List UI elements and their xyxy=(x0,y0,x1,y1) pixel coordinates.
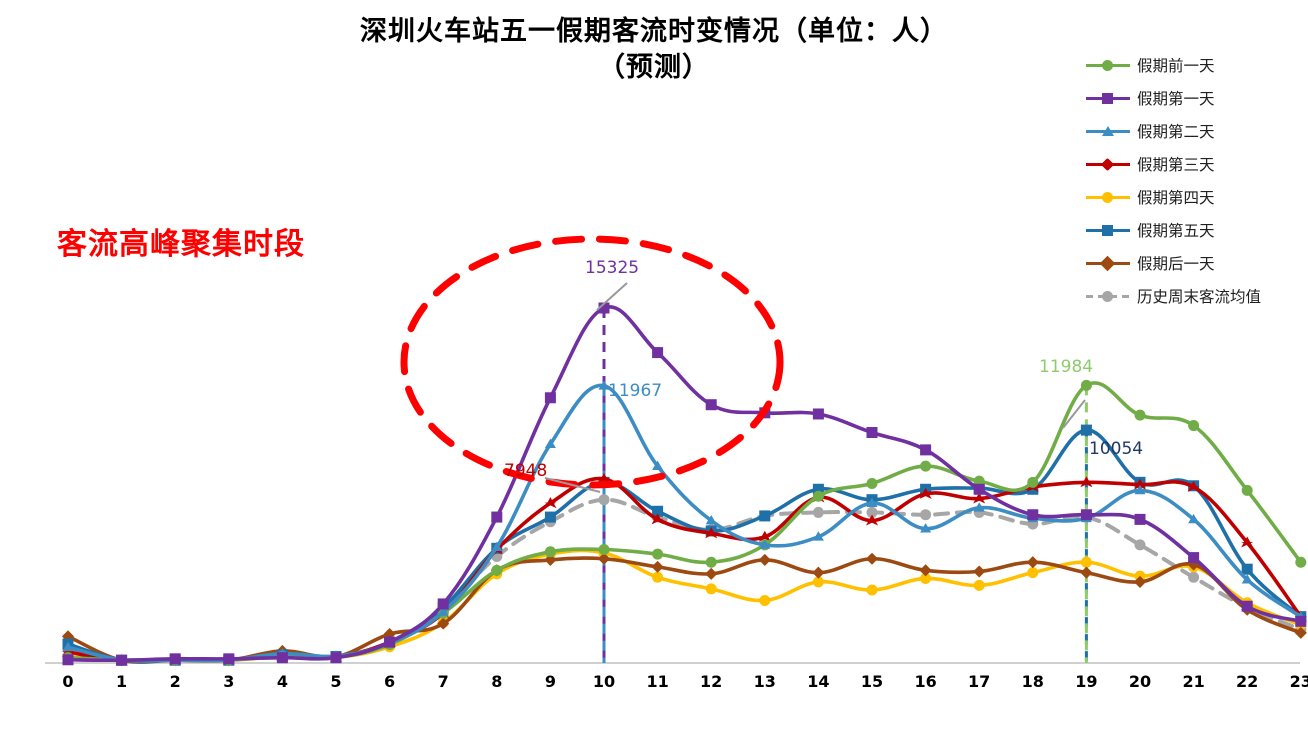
triangle-marker-icon xyxy=(1102,126,1114,136)
x-tick-7: 7 xyxy=(423,672,463,691)
data-point-marker xyxy=(867,585,878,596)
data-point-marker xyxy=(1081,557,1092,568)
data-label-red-at-10: 7948 xyxy=(504,461,547,481)
data-point-marker xyxy=(920,461,931,472)
legend-label: 假期第三天 xyxy=(1137,153,1215,175)
data-point-marker xyxy=(813,507,824,518)
x-tick-18: 18 xyxy=(1013,672,1053,691)
legend-swatch-square-icon xyxy=(1086,222,1130,238)
data-point-marker xyxy=(706,399,717,410)
data-point-marker xyxy=(1242,601,1253,612)
data-point-marker xyxy=(545,512,556,523)
data-point-marker xyxy=(1188,552,1199,563)
x-tick-13: 13 xyxy=(745,672,785,691)
x-tick-21: 21 xyxy=(1174,672,1214,691)
x-tick-0: 0 xyxy=(48,672,88,691)
data-point-marker xyxy=(599,544,610,555)
data-point-marker xyxy=(813,408,824,419)
square-marker-icon xyxy=(1102,225,1113,236)
data-point-marker xyxy=(920,444,931,455)
data-point-marker xyxy=(438,598,449,609)
data-point-marker xyxy=(974,580,985,591)
data-point-marker xyxy=(116,655,127,666)
data-point-marker xyxy=(1135,514,1146,525)
x-tick-23: 23 xyxy=(1281,672,1308,691)
legend-item-5[interactable]: 假期第五天 xyxy=(1086,213,1261,246)
legend-item-7[interactable]: 历史周末客流均值 xyxy=(1086,279,1261,312)
data-point-marker xyxy=(652,347,663,358)
legend-label: 假期前一天 xyxy=(1137,54,1215,76)
data-label-blue-peak: 11967 xyxy=(608,381,662,401)
series-5 xyxy=(63,425,1307,666)
star-marker-icon xyxy=(1101,157,1114,170)
data-point-marker xyxy=(1081,380,1092,391)
data-point-marker xyxy=(1295,557,1306,568)
data-point-marker xyxy=(277,652,288,663)
data-label-purple-peak: 15325 xyxy=(585,258,639,278)
x-tick-14: 14 xyxy=(798,672,838,691)
legend-item-3[interactable]: 假期第三天 xyxy=(1086,147,1261,180)
data-point-marker xyxy=(1188,420,1199,431)
data-point-marker xyxy=(1027,556,1039,568)
data-point-marker xyxy=(867,478,878,489)
legend-swatch-circle-icon xyxy=(1086,57,1130,73)
data-point-marker xyxy=(599,494,610,505)
series-line xyxy=(68,558,1301,662)
series-4 xyxy=(63,547,1307,665)
data-point-marker xyxy=(545,546,556,557)
data-point-marker xyxy=(652,549,663,560)
data-point-marker xyxy=(331,652,342,663)
data-point-marker xyxy=(1080,567,1092,579)
legend-label: 假期第一天 xyxy=(1137,87,1215,109)
diamond-marker-icon xyxy=(1100,255,1116,271)
series-line xyxy=(68,430,1301,661)
legend-item-2[interactable]: 假期第二天 xyxy=(1086,114,1261,147)
x-tick-12: 12 xyxy=(691,672,731,691)
data-point-marker xyxy=(384,637,395,648)
data-point-marker xyxy=(706,583,717,594)
data-point-marker xyxy=(63,654,74,665)
data-point-marker xyxy=(652,572,663,583)
series-line xyxy=(68,383,1301,660)
data-point-marker xyxy=(1188,572,1199,583)
data-point-marker xyxy=(920,509,931,520)
data-point-marker xyxy=(920,564,932,576)
x-tick-6: 6 xyxy=(370,672,410,691)
legend-swatch-triangle-icon xyxy=(1086,123,1130,139)
series-line xyxy=(68,550,1301,660)
data-point-marker xyxy=(759,595,770,606)
legend-swatch-circle-icon xyxy=(1086,288,1130,304)
circle-marker-icon xyxy=(1102,192,1113,203)
data-point-marker xyxy=(867,427,878,438)
data-point-marker xyxy=(170,653,181,664)
x-tick-2: 2 xyxy=(155,672,195,691)
x-tick-22: 22 xyxy=(1227,672,1267,691)
data-point-marker xyxy=(705,568,717,580)
data-point-marker xyxy=(1081,509,1092,520)
data-point-marker xyxy=(223,653,234,664)
square-marker-icon xyxy=(1102,93,1113,104)
x-tick-9: 9 xyxy=(530,672,570,691)
data-point-marker xyxy=(652,561,664,573)
data-point-marker xyxy=(1295,616,1306,627)
x-tick-15: 15 xyxy=(852,672,892,691)
x-tick-4: 4 xyxy=(262,672,302,691)
x-tick-10: 10 xyxy=(584,672,624,691)
x-tick-16: 16 xyxy=(906,672,946,691)
data-point-marker xyxy=(1081,425,1092,436)
legend-label: 假期第二天 xyxy=(1137,120,1215,142)
x-tick-1: 1 xyxy=(102,672,142,691)
data-point-marker xyxy=(1135,539,1146,550)
data-point-marker xyxy=(866,553,878,565)
x-tick-19: 19 xyxy=(1066,672,1106,691)
data-label-darkblue-peak: 10054 xyxy=(1089,439,1143,459)
data-point-marker xyxy=(1135,410,1146,421)
legend-swatch-circle-icon xyxy=(1086,189,1130,205)
chart-container: 深圳火车站五一假期客流时变情况（单位：人） （预测） 客流高峰聚集时段 1532… xyxy=(0,0,1308,751)
circle-marker-icon xyxy=(1102,60,1113,71)
data-point-marker xyxy=(974,484,985,495)
legend-item-4[interactable]: 假期第四天 xyxy=(1086,180,1261,213)
legend-swatch-diamond-icon xyxy=(1086,255,1130,271)
data-point-marker xyxy=(491,565,502,576)
x-tick-3: 3 xyxy=(209,672,249,691)
legend-label: 假期后一天 xyxy=(1137,252,1215,274)
data-label-green-peak: 11984 xyxy=(1039,357,1093,377)
data-point-marker xyxy=(1027,477,1038,488)
data-point-marker xyxy=(866,514,878,525)
data-point-marker xyxy=(706,557,717,568)
x-tick-5: 5 xyxy=(316,672,356,691)
legend-item-1[interactable]: 假期第一天 xyxy=(1086,81,1261,114)
data-point-marker xyxy=(1242,485,1253,496)
data-point-marker xyxy=(1242,564,1253,575)
data-point-marker xyxy=(545,392,556,403)
x-tick-17: 17 xyxy=(959,672,999,691)
data-point-marker xyxy=(813,491,824,502)
chart-legend: 假期前一天假期第一天假期第二天假期第三天假期第四天假期第五天假期后一天历史周末客… xyxy=(1086,48,1261,312)
x-tick-8: 8 xyxy=(477,672,517,691)
circle-marker-icon xyxy=(1102,291,1113,302)
x-tick-20: 20 xyxy=(1120,672,1160,691)
data-point-marker xyxy=(973,565,985,577)
legend-item-6[interactable]: 假期后一天 xyxy=(1086,246,1261,279)
data-point-marker xyxy=(491,512,502,523)
series-2 xyxy=(63,380,1307,664)
data-point-marker xyxy=(759,510,770,521)
legend-label: 假期第五天 xyxy=(1137,219,1215,241)
x-tick-11: 11 xyxy=(638,672,678,691)
data-point-marker xyxy=(1027,567,1038,578)
data-point-marker xyxy=(759,554,771,566)
data-point-marker xyxy=(1027,509,1038,520)
data-point-marker xyxy=(812,567,824,579)
legend-label: 假期第四天 xyxy=(1137,186,1215,208)
legend-swatch-square-icon xyxy=(1086,90,1130,106)
legend-swatch-star-icon xyxy=(1086,156,1130,172)
legend-label: 历史周末客流均值 xyxy=(1137,285,1261,307)
legend-item-0[interactable]: 假期前一天 xyxy=(1086,48,1261,81)
series-3 xyxy=(62,473,1307,666)
